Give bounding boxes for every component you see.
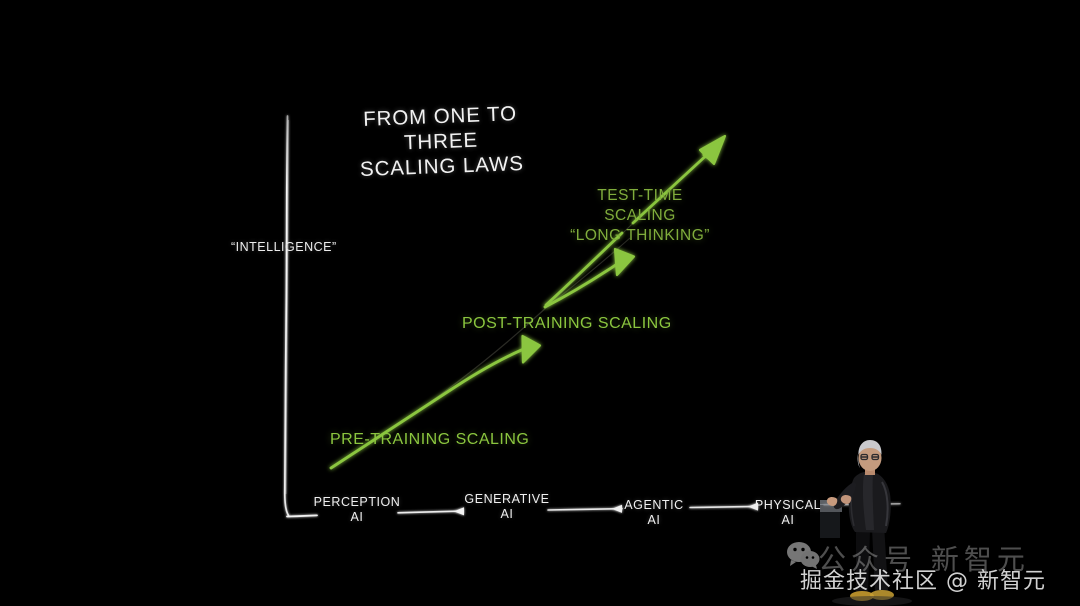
page-title: FROM ONE TO THREE SCALING LAWS <box>340 100 543 182</box>
curve-post-training-scaling <box>545 249 634 307</box>
y-axis-label: “INTELLIGENCE” <box>231 240 337 254</box>
x-axis-category-perception-ai: PERCEPTION AI <box>310 495 404 525</box>
y-axis <box>285 116 289 516</box>
annotation-pre-training-scaling: PRE-TRAINING SCALING <box>330 430 529 450</box>
x-axis-category-generative-ai: GENERATIVE AI <box>460 492 554 522</box>
watermark-main-text: 掘金技术社区 @ 新智元 <box>800 563 1046 595</box>
presentation-screenshot: FROM ONE TO THREE SCALING LAWS “INTELLIG… <box>0 0 1080 606</box>
x-axis-category-agentic-ai: AGENTIC AI <box>608 498 700 528</box>
annotation-post-training-scaling: POST-TRAINING SCALING <box>462 314 672 334</box>
annotation-test-time-scaling: TEST-TIME SCALING “LONG THINKING” <box>566 186 714 246</box>
